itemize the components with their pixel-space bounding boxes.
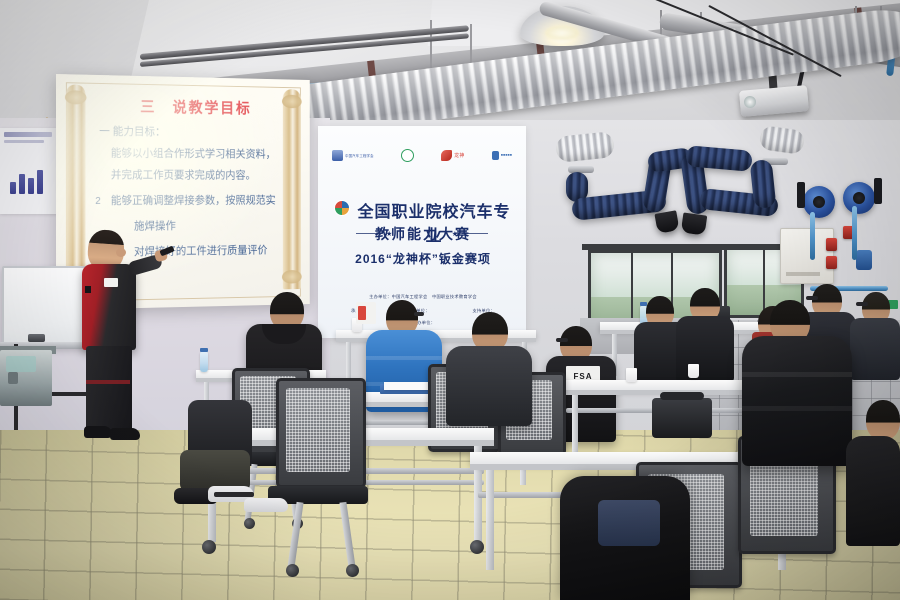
- bag-handle: [660, 392, 704, 400]
- paper-cup[interactable]: [626, 368, 637, 382]
- jacket-seam: [742, 372, 852, 377]
- chair-caster: [286, 564, 299, 577]
- dome-light-bulb: [545, 26, 579, 40]
- slide-heading: 一 能力目标：: [99, 125, 165, 141]
- banner-line-3: 2016“龙神杯”钣金赛项: [332, 250, 514, 267]
- table-caster: [202, 540, 216, 554]
- poster-bar-chart: [10, 168, 50, 194]
- blue-drop-pipe: [810, 212, 815, 260]
- presenter-jacket: [82, 264, 136, 350]
- attendee-glasses: [856, 302, 868, 306]
- sponsor-logo-row: 中国汽车工程学会 龙神 ■■■■■: [332, 146, 512, 164]
- sneaker-stripe: [214, 492, 254, 497]
- attendee-sneaker: [244, 498, 288, 512]
- slide-line-1: 能够以小组合作形式学习相关资料，: [111, 147, 276, 163]
- power-socket[interactable]: [826, 256, 837, 269]
- presenter-shoe-left: [84, 426, 112, 438]
- whiteboard-eraser[interactable]: [28, 334, 45, 342]
- slide-column-right: [283, 89, 301, 289]
- sponsor-logo-3: 龙神: [441, 148, 464, 162]
- attendee-torso: [676, 316, 734, 382]
- sponsor-logo-1: 中国汽车工程学会: [332, 148, 374, 162]
- power-socket[interactable]: [826, 238, 837, 251]
- window-header-rail: [582, 244, 804, 250]
- presenter-trouser-stripe: [86, 380, 130, 384]
- chair-caster: [346, 564, 359, 577]
- presenter-trousers: [86, 346, 132, 432]
- table-caster: [470, 540, 484, 554]
- blue-drop-pipe: [852, 206, 857, 260]
- slide-line-2: 并完成工作页要求完成的内容。: [111, 168, 256, 183]
- jacket-seam: [366, 356, 442, 360]
- panel-label: [786, 272, 820, 276]
- attendee-glasses: [414, 312, 424, 316]
- attendee-head-foreground: [866, 400, 900, 440]
- red-cup[interactable]: [358, 306, 366, 320]
- reel-bracket: [874, 178, 882, 204]
- attendee-torso: [446, 346, 532, 426]
- slide-line-3: 能够正确调整焊接参数，按照规范实: [111, 194, 276, 209]
- chair-mesh-back: [286, 388, 350, 472]
- sponsor-logo-3-label: 龙神: [454, 152, 464, 159]
- poster-title-band: [4, 132, 52, 137]
- classroom-photo: 三 说教学目标 一 能力目标： 能够以小组合作形式学习相关资料， 并完成工作页要…: [0, 0, 900, 600]
- slide-number-2: 2: [95, 196, 100, 207]
- attendee-glasses: [806, 296, 818, 300]
- sponsor-logo-4: ■■■■■: [492, 148, 512, 162]
- attendee-foreground-jacket: [742, 336, 852, 466]
- presenter-face-highlight: [116, 248, 126, 257]
- presenter-badge: [104, 278, 118, 287]
- machine-window: [6, 356, 36, 372]
- chair-caster: [244, 518, 255, 529]
- sponsor-logo-1-label: 中国汽车工程学会: [345, 153, 374, 158]
- slide-column-left: [66, 84, 86, 294]
- shoulder-bag[interactable]: [652, 398, 712, 438]
- attendee-foreground-torso: [846, 436, 900, 546]
- slide-title: 三 说教学目标: [101, 95, 288, 119]
- slide-line-4: 施焊操作: [134, 219, 176, 234]
- banner-line-2: 教师能力大赛: [332, 224, 514, 244]
- paper-cup[interactable]: [688, 364, 699, 378]
- water-bottle[interactable]: [200, 352, 208, 372]
- reel-bracket: [797, 182, 805, 208]
- attendee-torso: [850, 318, 900, 380]
- sponsor-logo-2: [401, 148, 414, 162]
- poster-subtitle-band: [4, 140, 44, 143]
- banner-organizer: 主办单位：中国汽车工程学会 中国职业技术教育学会: [328, 294, 518, 300]
- air-valve[interactable]: [856, 250, 872, 270]
- competition-banner: 中国汽车工程学会 龙神 ■■■■■ 全国职业院校汽车专业 ★ 教师能力大赛 ★ …: [318, 126, 526, 338]
- banner-emblem-icon: [334, 200, 350, 216]
- presenter-pocket: [85, 286, 91, 293]
- attendee-glasses: [556, 338, 568, 342]
- attendee-jeans: [598, 500, 660, 546]
- machine-knob[interactable]: [8, 372, 18, 384]
- jacket-seam: [742, 406, 852, 411]
- presenter-shoe-right: [110, 428, 140, 440]
